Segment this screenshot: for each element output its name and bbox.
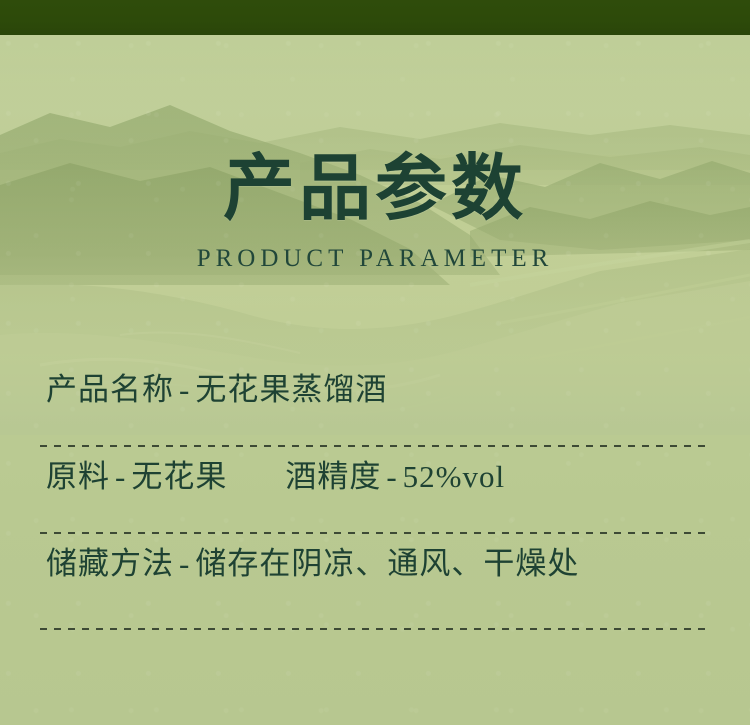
- spec-label-ingredient: 原料: [46, 459, 110, 494]
- spec-row-product-name-text: 产品名称-无花果蒸馏酒: [46, 368, 387, 412]
- spec-separator-1a: -: [110, 459, 131, 494]
- spec-row-product-name: 产品名称-无花果蒸馏酒: [40, 360, 712, 447]
- spec-separator-2: -: [174, 546, 195, 581]
- spec-divider-3: [40, 628, 712, 630]
- spec-value-alcohol: 52%vol: [403, 459, 505, 494]
- spec-label-product-name: 产品名称: [46, 372, 174, 407]
- top-accent-bar: [0, 0, 750, 35]
- spec-row-storage: 储藏方法-储存在阴凉、通风、干燥处: [40, 534, 712, 630]
- spec-row-ingredient-alcohol: 原料-无花果酒精度-52%vol: [40, 447, 712, 534]
- spec-separator-1b: -: [381, 459, 402, 494]
- page-title: 产品参数: [0, 150, 750, 228]
- spec-label-alcohol: 酒精度: [227, 459, 381, 494]
- spec-row-ingredient-alcohol-text: 原料-无花果酒精度-52%vol: [46, 455, 505, 499]
- product-parameter-page: 产品参数 PRODUCT PARAMETER 产品名称-无花果蒸馏酒 原料-无花…: [0, 0, 750, 725]
- spec-label-storage: 储藏方法: [46, 546, 174, 581]
- spec-separator-0: -: [174, 372, 195, 407]
- spec-row-storage-text: 储藏方法-储存在阴凉、通风、干燥处: [46, 542, 579, 586]
- spec-value-storage: 储存在阴凉、通风、干燥处: [195, 546, 579, 581]
- spec-value-ingredient: 无花果: [131, 459, 227, 494]
- spec-list: 产品名称-无花果蒸馏酒 原料-无花果酒精度-52%vol 储藏方法-储存在阴凉、…: [40, 360, 712, 630]
- page-heading: 产品参数 PRODUCT PARAMETER: [0, 150, 750, 274]
- spec-value-product-name: 无花果蒸馏酒: [195, 372, 387, 407]
- page-subtitle: PRODUCT PARAMETER: [0, 244, 750, 274]
